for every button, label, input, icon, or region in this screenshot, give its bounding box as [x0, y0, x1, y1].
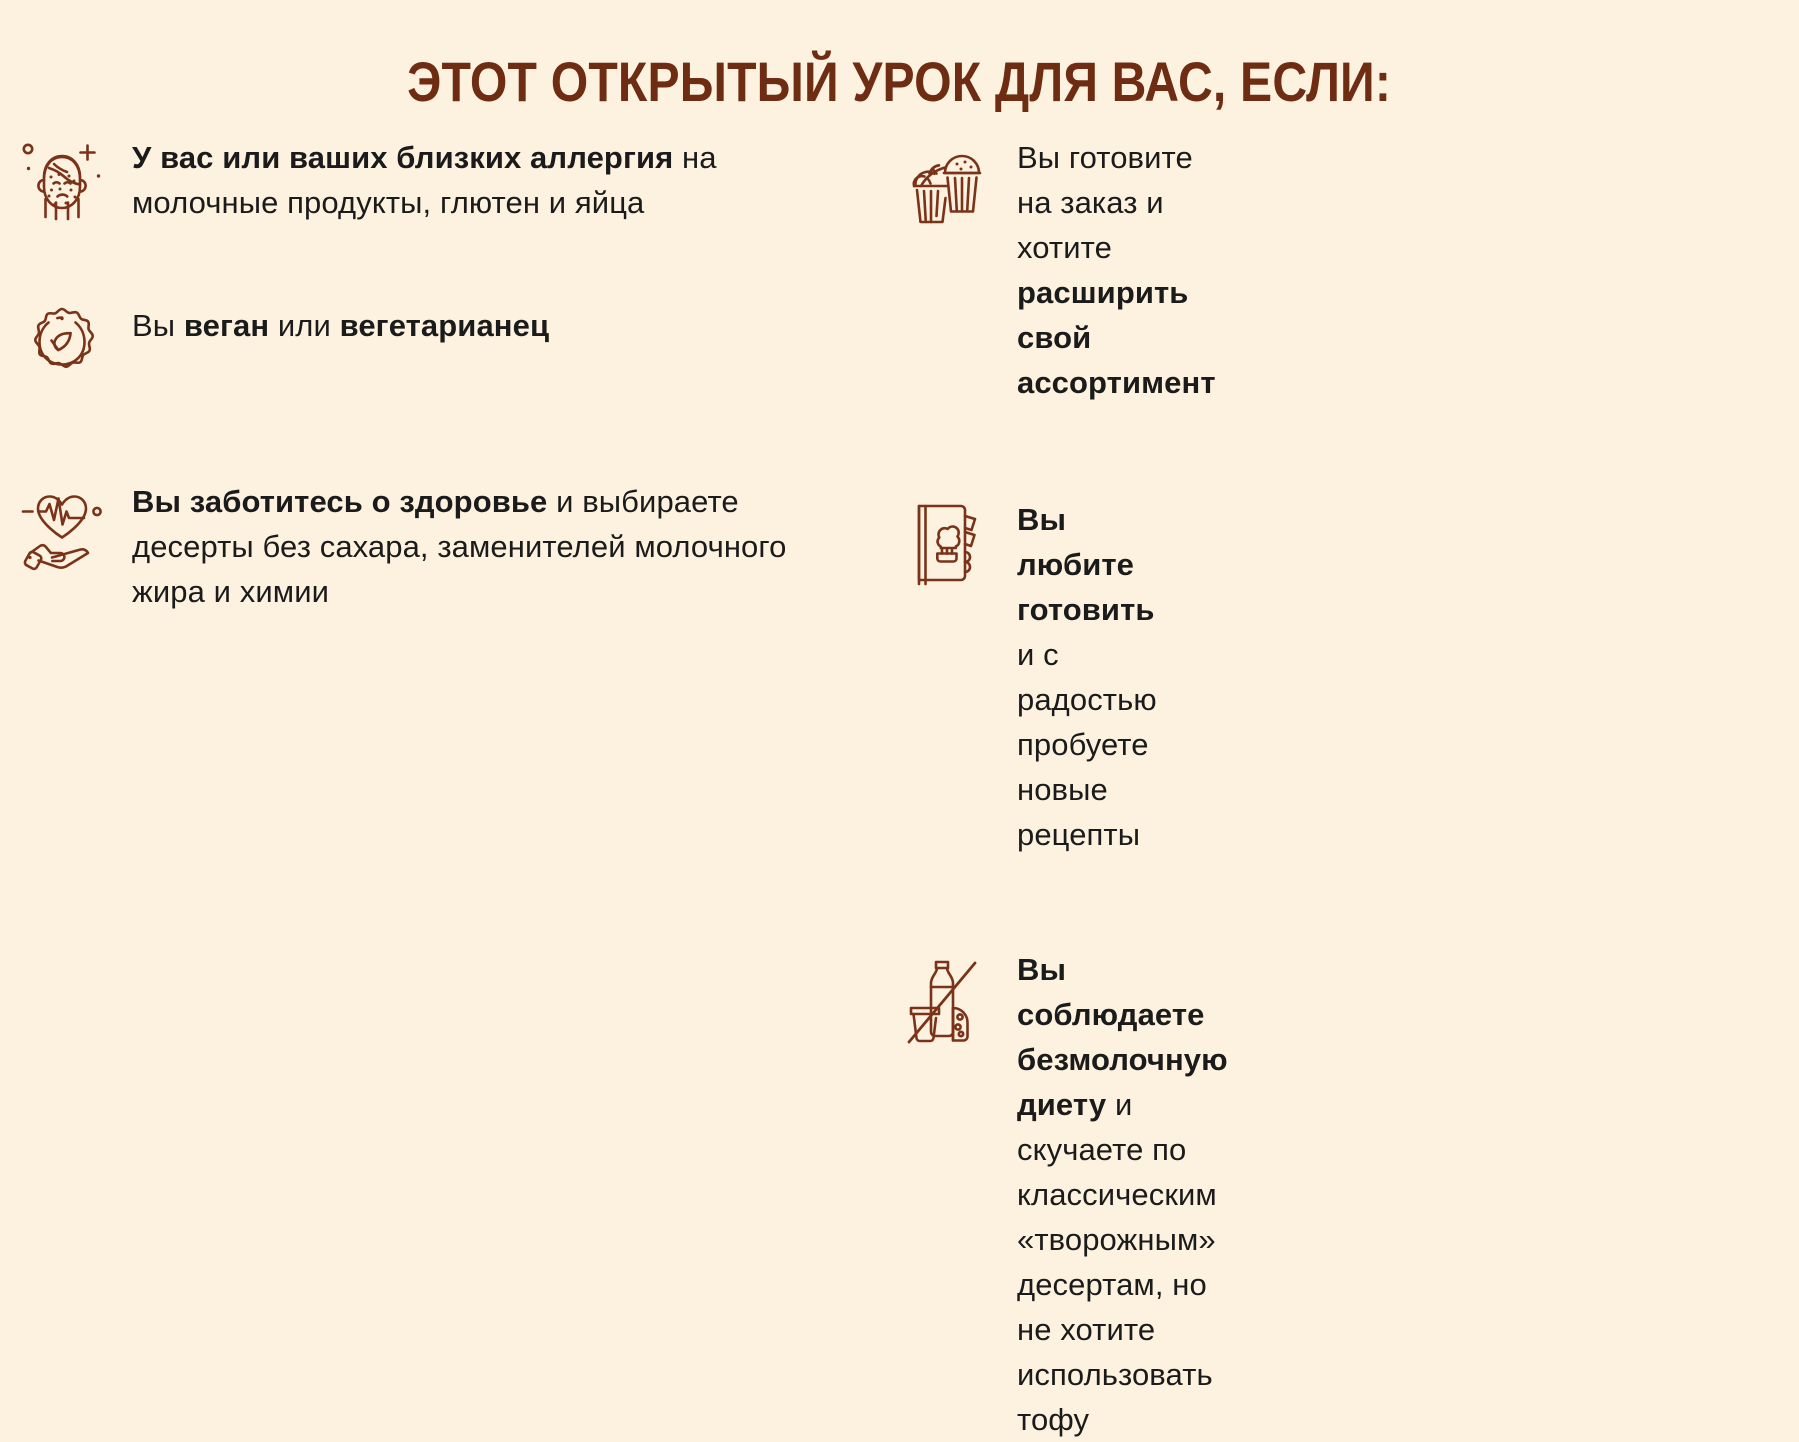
- list-item-bold: Вы любите готовить: [1017, 502, 1155, 627]
- list-item: Вы любите готовить и с радостью пробуете…: [899, 495, 949, 857]
- list-item-lead: Вы готовите на заказ и хотите: [1017, 140, 1193, 265]
- page-title: ЭТОТ ОТКРЫТЫЙ УРОК ДЛЯ ВАС, ЕСЛИ:: [408, 46, 1392, 118]
- list-item-text: Вы готовите на заказ и хотите расширить …: [1017, 133, 1216, 405]
- list-item-text: Вы соблюдаете безмолочную диету и скучае…: [1017, 945, 1228, 1442]
- recipe-book-icon: [899, 495, 995, 593]
- list-item-rest: и скучаете по классическим «творожным» д…: [1017, 1087, 1217, 1437]
- list-item-rest: и с радостью пробуете новые рецепты: [1017, 637, 1157, 852]
- list-item: Вы соблюдаете безмолочную диету и скучае…: [899, 945, 949, 1442]
- no-dairy-icon: [899, 945, 995, 1051]
- benefits-column-right: Вы готовите на заказ и хотите расширить …: [50, 125, 949, 1442]
- cupcakes-icon: [899, 133, 995, 233]
- benefits-columns: У вас или ваших близких аллергия на моло…: [0, 125, 1799, 1442]
- slide-root: ЭТОТ ОТКРЫТЫЙ УРОК ДЛЯ ВАС, ЕСЛИ:: [0, 0, 1799, 833]
- list-item-bold: расширить свой ассортимент: [1017, 275, 1216, 400]
- list-item-text: Вы любите готовить и с радостью пробуете…: [1017, 495, 1157, 857]
- list-item: Вы готовите на заказ и хотите расширить …: [899, 133, 949, 405]
